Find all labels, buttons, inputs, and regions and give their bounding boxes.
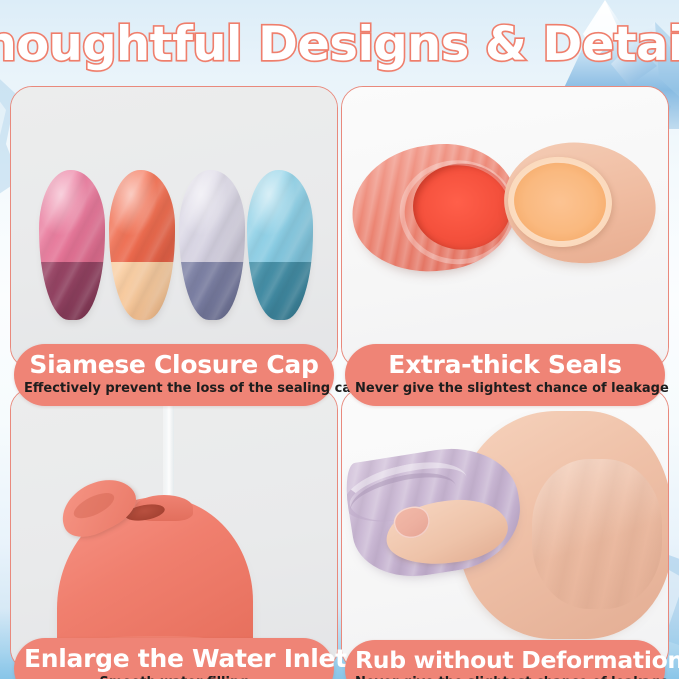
panel-image-rub-without-deformation	[342, 389, 668, 670]
caption-siamese-closure-cap: Siamese Closure Cap Effectively prevent …	[14, 344, 334, 406]
caption-subheading: Never give the slightest chance of leaka…	[355, 381, 655, 397]
panel-image-extra-thick-seals	[342, 87, 668, 368]
page-title-text: Thoughtful Designs & Details	[0, 21, 679, 68]
product-lavender-bottle	[179, 170, 245, 320]
caption-subheading: Effectively prevent the loss of the seal…	[24, 381, 324, 397]
product-coral-seal-bottle	[345, 135, 524, 280]
page-title: Thoughtful Designs & Details	[0, 8, 679, 80]
feature-panel-rub-without-deformation: Rub without Deformation Never give the s…	[341, 388, 669, 671]
feature-panel-extra-thick-seals: Extra-thick Seals Never give the slighte…	[341, 86, 669, 369]
hand-squeeze-photo	[342, 389, 668, 670]
caption-rub-without-deformation: Rub without Deformation Never give the s…	[345, 640, 665, 679]
product-coral-bottle	[109, 170, 175, 320]
caption-subheading: Never give the slightest chance of leaka…	[355, 675, 655, 679]
bottle-lineup-photo	[11, 87, 337, 368]
caption-subheading: Smooth water filling	[24, 675, 324, 679]
caption-enlarge-the-water-inlet: Enlarge the Water Inlet Smooth water fil…	[14, 638, 334, 679]
caption-extra-thick-seals: Extra-thick Seals Never give the slighte…	[345, 344, 665, 406]
product-pink-bottle	[39, 170, 105, 320]
panel-image-siamese-closure-cap	[11, 87, 337, 368]
caption-heading: Rub without Deformation	[355, 647, 655, 673]
caption-heading: Siamese Closure Cap	[24, 351, 324, 379]
feature-panel-siamese-closure-cap: Siamese Closure Cap Effectively prevent …	[10, 86, 338, 369]
panel-image-enlarge-the-water-inlet	[11, 389, 337, 670]
product-infographic: Thoughtful Designs & Details	[0, 0, 679, 679]
feature-panel-grid: Siamese Closure Cap Effectively prevent …	[10, 86, 669, 671]
feature-panel-enlarge-the-water-inlet: Enlarge the Water Inlet Smooth water fil…	[10, 388, 338, 671]
caption-heading: Enlarge the Water Inlet	[24, 645, 324, 673]
water-filling-photo	[11, 389, 337, 670]
product-blue-bottle	[247, 170, 313, 320]
caption-heading: Extra-thick Seals	[355, 351, 655, 379]
water-stream	[163, 389, 174, 507]
seal-closeup-photo	[342, 87, 668, 368]
